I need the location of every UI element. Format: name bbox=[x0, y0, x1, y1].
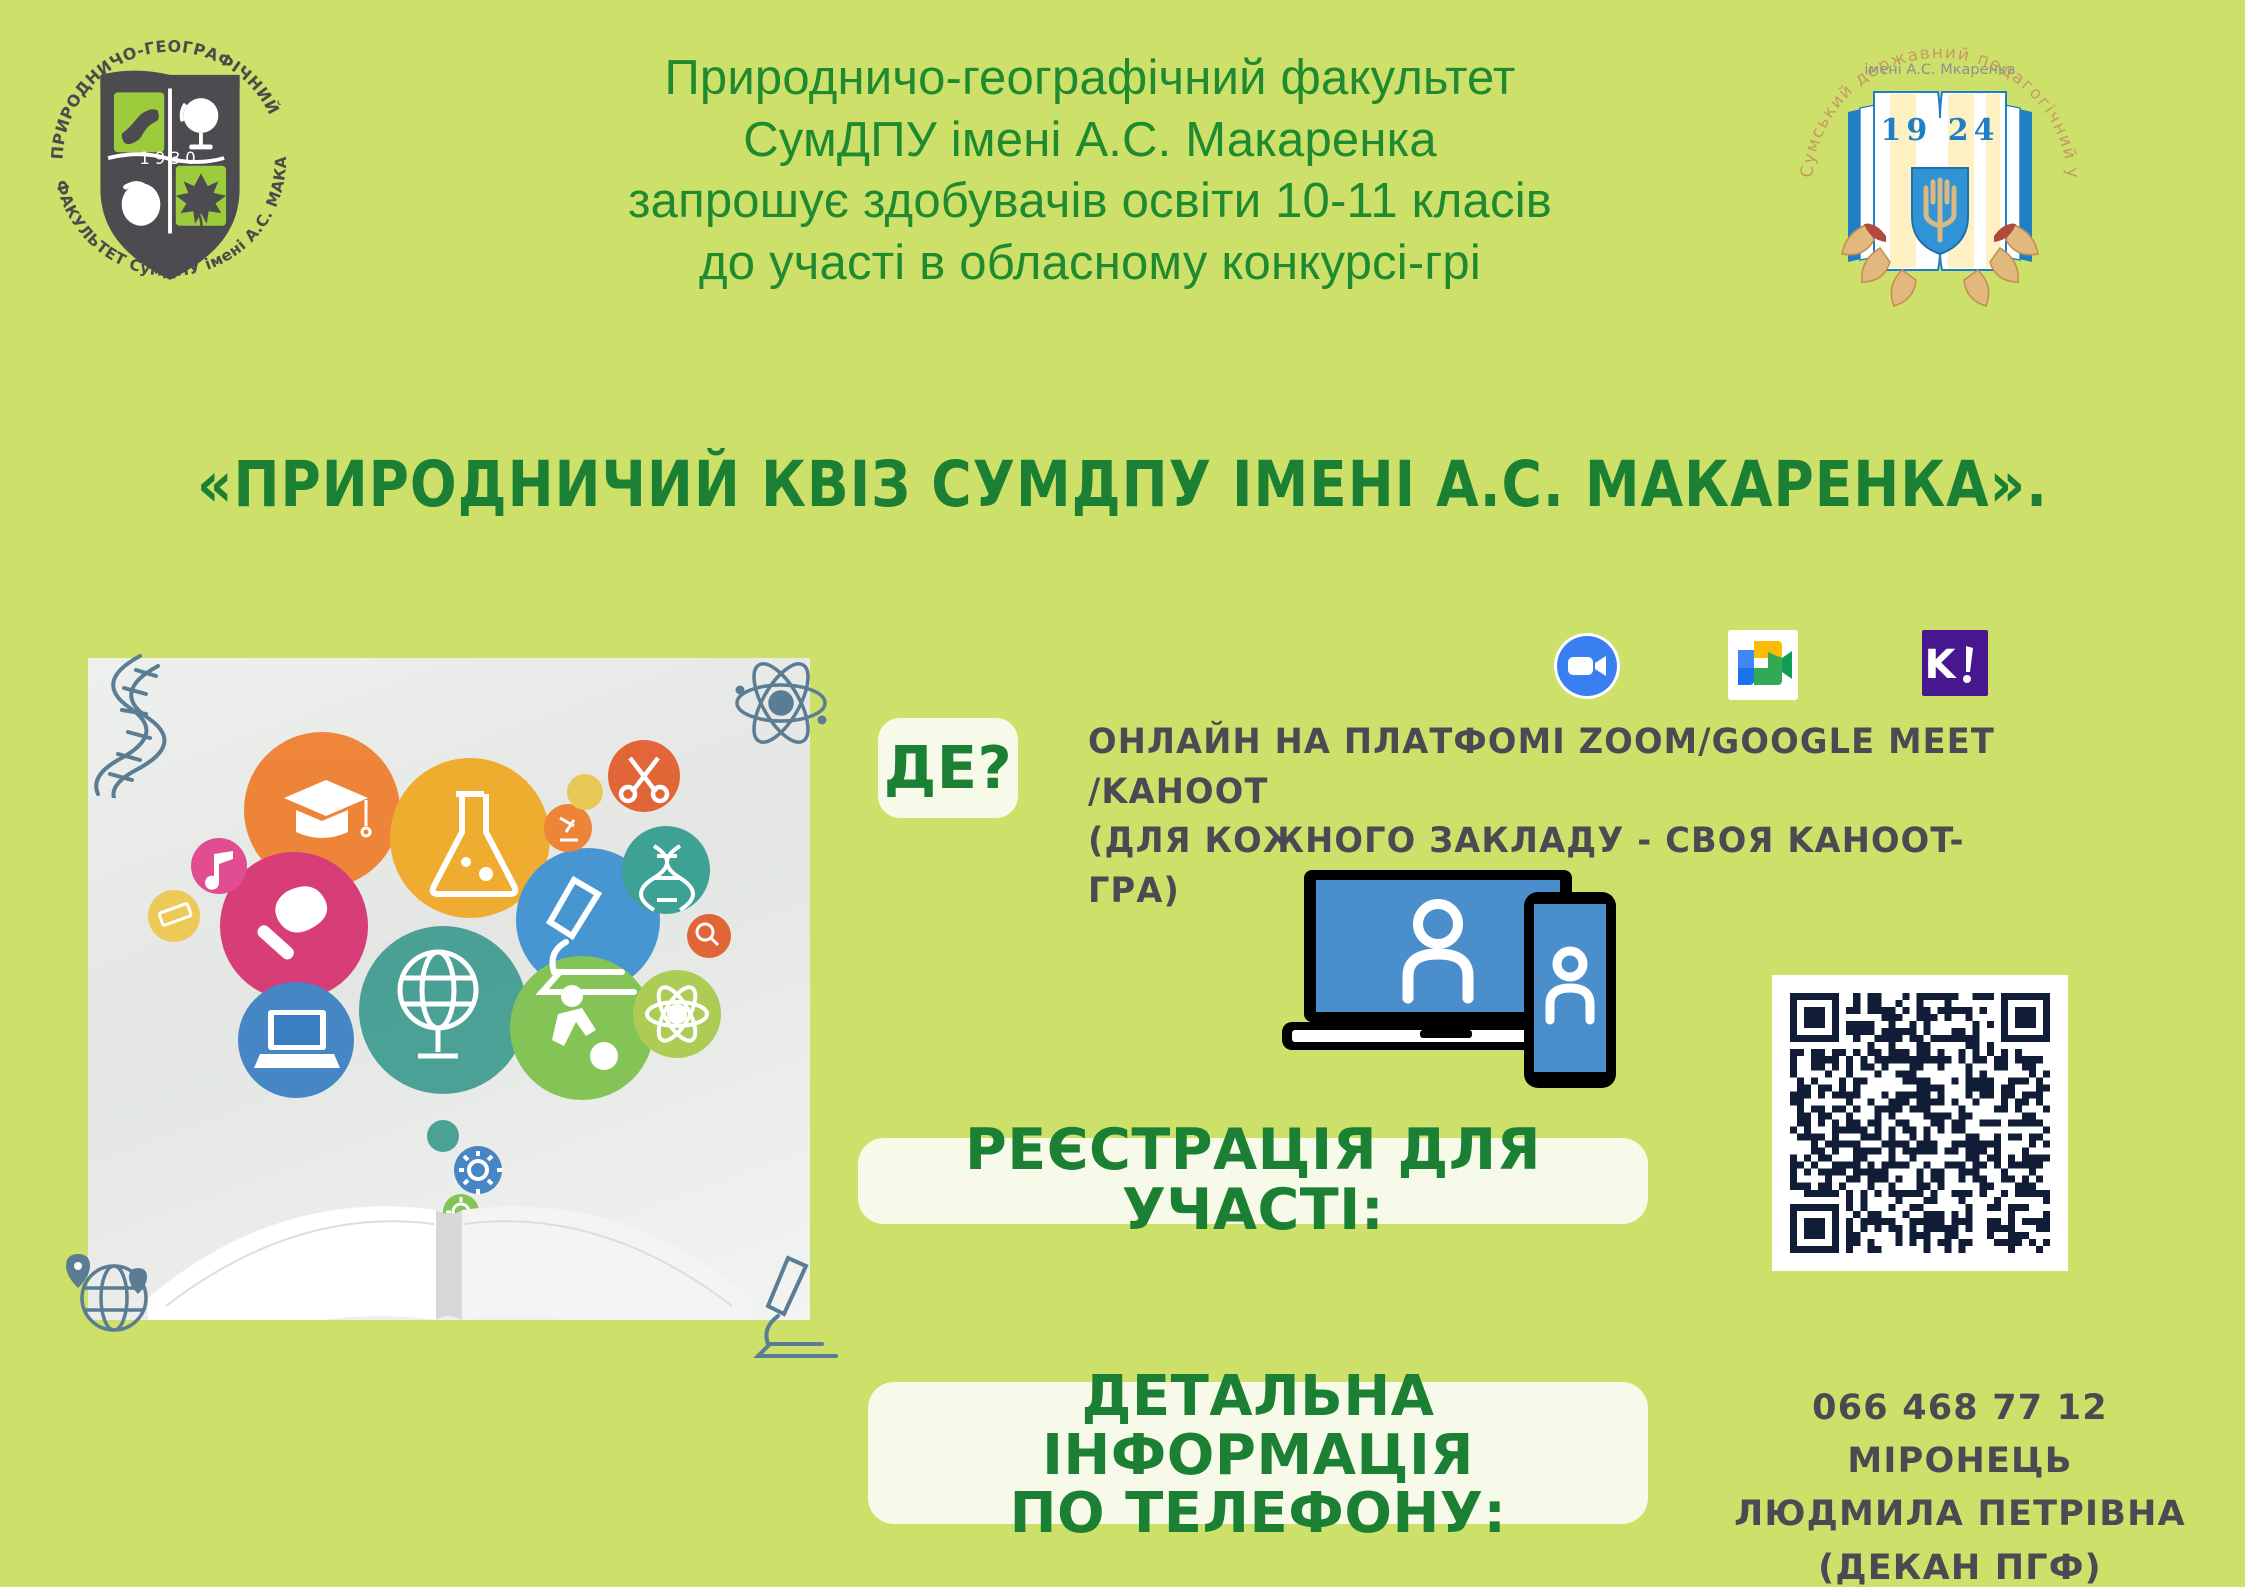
microscope-icon bbox=[752, 1248, 842, 1358]
bubble-magnifier bbox=[687, 914, 731, 958]
phone-icon bbox=[1524, 892, 1616, 1088]
dna-helix-icon bbox=[62, 648, 172, 798]
faculty-emblem: ПРИРОДНИЧО-ГЕОГРАФІЧНИЙ ФАКУЛЬТЕТ СумДПУ… bbox=[25, 15, 315, 305]
header-line-2: СумДПУ імені А.С. Макаренка bbox=[430, 110, 1750, 172]
registration-label: РЕЄСТРАЦІЯ ДЛЯ УЧАСТІ: bbox=[858, 1121, 1648, 1241]
bubble-ruler bbox=[148, 890, 200, 942]
contact-line-3: (ДЕКАН ПГФ) bbox=[1700, 1542, 2220, 1587]
registration-qr-code[interactable] bbox=[1772, 975, 2068, 1271]
open-book-illustration bbox=[148, 1206, 750, 1320]
svg-text:K: K bbox=[1925, 642, 1958, 688]
header-line-1: Природничо-географічний факультет bbox=[430, 48, 1750, 110]
registration-label-chip: РЕЄСТРАЦІЯ ДЛЯ УЧАСТІ: bbox=[858, 1138, 1648, 1224]
education-illustration bbox=[88, 658, 810, 1320]
header-line-4: до участі в обласному конкурсі-грі bbox=[430, 233, 1750, 295]
bubble-micro bbox=[567, 774, 603, 810]
globe-pin-icon bbox=[52, 1240, 172, 1340]
faculty-year: 1930 bbox=[139, 149, 200, 168]
phone-label-line-2: ПО ТЕЛЕФОНУ: bbox=[1010, 1485, 1507, 1544]
zoom-icon[interactable] bbox=[1553, 632, 1621, 700]
page-title: «ПРИРОДНИЧИЙ КВІЗ СУМДПУ ІМЕНІ А.С. МАКА… bbox=[34, 448, 2212, 521]
poster-root: ПРИРОДНИЧО-ГЕОГРАФІЧНИЙ ФАКУЛЬТЕТ СумДПУ… bbox=[0, 0, 2245, 1587]
header-text: Природничо-географічний факультет СумДПУ… bbox=[430, 48, 1750, 295]
contact-line-2: ЛЮДМИЛА ПЕТРІВНА bbox=[1700, 1488, 2220, 1541]
university-year: 19 24 bbox=[1881, 113, 2000, 148]
university-emblem: Сумський державний педагогічний універси… bbox=[1790, 8, 2090, 308]
university-subtitle: імені А.С. Мкаренка bbox=[1864, 62, 2015, 78]
bird-icon bbox=[122, 183, 161, 226]
qr-canvas bbox=[1790, 993, 2050, 1253]
google-meet-icon[interactable] bbox=[1728, 630, 1798, 700]
contact-line-1: 066 468 77 12 МІРОНЕЦЬ bbox=[1700, 1382, 2220, 1488]
atom-icon bbox=[726, 648, 836, 758]
platform-line-1: ОНЛАЙН НА ПЛАТФОМІ ZOOM/GOOGLE MEET /KAH… bbox=[1088, 718, 2029, 817]
phone-label-line-1: ДЕТАЛЬНА ІНФОРМАЦІЯ bbox=[868, 1368, 1648, 1486]
shield-shape: 1930 bbox=[100, 71, 239, 280]
phone-label-chip: ДЕТАЛЬНА ІНФОРМАЦІЯ ПО ТЕЛЕФОНУ: bbox=[868, 1382, 1648, 1524]
kahoot-icon[interactable]: K bbox=[1922, 630, 1988, 696]
header-line-3: запрошує здобувачів освіти 10-11 класів bbox=[430, 171, 1750, 233]
where-label-chip: ДЕ? bbox=[878, 718, 1018, 818]
bubble-dot1 bbox=[427, 1120, 459, 1152]
globe-icon bbox=[184, 98, 219, 133]
laptop-and-phone-illustration bbox=[1280, 852, 1640, 1112]
contact-text: 066 468 77 12 МІРОНЕЦЬ ЛЮДМИЛА ПЕТРІВНА … bbox=[1700, 1382, 2220, 1587]
where-label: ДЕ? bbox=[884, 737, 1013, 799]
